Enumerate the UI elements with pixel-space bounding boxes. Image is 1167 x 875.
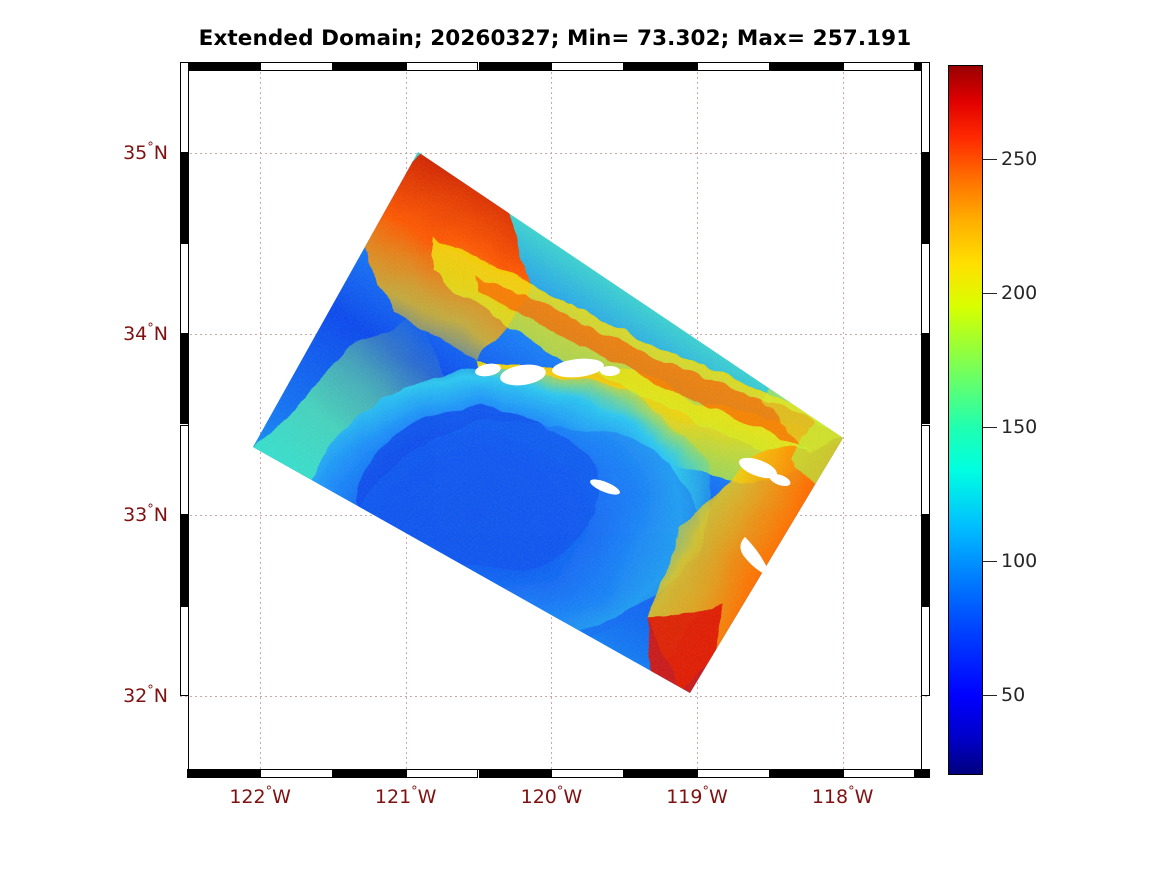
figure-canvas: Extended Domain; 20260327; Min= 73.302; … bbox=[0, 0, 1167, 875]
x-tick-label: 119°W bbox=[666, 786, 728, 808]
x-tick-hemisphere: W bbox=[563, 786, 582, 808]
y-tick-hemisphere: N bbox=[154, 685, 168, 707]
frame-segment-top bbox=[187, 62, 260, 71]
frame-segment-bottom bbox=[624, 769, 697, 778]
frame-segment-top bbox=[770, 62, 843, 71]
frame-segment-bottom bbox=[551, 769, 624, 778]
x-tick-number: 120 bbox=[521, 786, 557, 808]
x-tick-number: 121 bbox=[375, 786, 411, 808]
map-axes[interactable] bbox=[180, 62, 930, 778]
frame-segment-right bbox=[921, 62, 930, 153]
frame-segment-bottom bbox=[915, 769, 930, 778]
frame-segment-top bbox=[697, 62, 770, 71]
colorbar-tick-label: 200 bbox=[1001, 282, 1037, 304]
page-title: Extended Domain; 20260327; Min= 73.302; … bbox=[0, 26, 1110, 51]
x-tick-hemisphere: W bbox=[855, 786, 874, 808]
frame-segment-left bbox=[180, 62, 189, 153]
colorbar-tick-mark bbox=[983, 561, 997, 562]
frame-segment-bottom bbox=[333, 769, 406, 778]
y-tick-label: 34°N bbox=[60, 323, 168, 345]
frame-segment-top bbox=[624, 62, 697, 71]
colorbar-tick-mark bbox=[983, 159, 997, 160]
frame-segment-right bbox=[921, 425, 930, 516]
frame-segment-left bbox=[180, 606, 189, 697]
x-tick-number: 119 bbox=[666, 786, 702, 808]
colorbar-tick-mark bbox=[983, 427, 997, 428]
frame-segment-left bbox=[180, 515, 189, 606]
frame-segment-left bbox=[180, 334, 189, 425]
frame-segment-right bbox=[921, 243, 930, 334]
frame-segment-bottom bbox=[187, 769, 260, 778]
x-tick-hemisphere: W bbox=[418, 786, 437, 808]
y-tick-hemisphere: N bbox=[154, 504, 168, 526]
colorbar-tick-label: 150 bbox=[1001, 416, 1037, 438]
satellite-swath-image bbox=[180, 62, 930, 778]
frame-segment-right bbox=[921, 606, 930, 697]
colorbar-tick-label: 100 bbox=[1001, 550, 1037, 572]
frame-segment-bottom bbox=[260, 769, 333, 778]
frame-segment-bottom bbox=[770, 769, 843, 778]
colorbar-gradient bbox=[949, 66, 982, 774]
frame-segment-right bbox=[921, 153, 930, 244]
frame-segment-right bbox=[921, 334, 930, 425]
x-tick-label: 121°W bbox=[375, 786, 437, 808]
colorbar-tick-label: 50 bbox=[1001, 684, 1025, 706]
y-tick-label: 32°N bbox=[60, 685, 168, 707]
x-tick-label: 118°W bbox=[812, 786, 874, 808]
colorbar-tick-mark bbox=[983, 293, 997, 294]
frame-segment-left bbox=[180, 153, 189, 244]
frame-segment-left bbox=[180, 425, 189, 516]
frame-segment-top bbox=[260, 62, 333, 71]
frame-segment-bottom bbox=[479, 769, 552, 778]
y-tick-number: 32 bbox=[123, 685, 147, 707]
frame-segment-bottom bbox=[406, 769, 479, 778]
y-tick-label: 35°N bbox=[60, 142, 168, 164]
frame-segment-left bbox=[180, 243, 189, 334]
y-tick-number: 35 bbox=[123, 142, 147, 164]
x-tick-hemisphere: W bbox=[709, 786, 728, 808]
colorbar-tick-label: 250 bbox=[1001, 148, 1037, 170]
x-tick-hemisphere: W bbox=[272, 786, 291, 808]
x-tick-label: 122°W bbox=[229, 786, 291, 808]
x-tick-number: 122 bbox=[229, 786, 265, 808]
x-tick-label: 120°W bbox=[521, 786, 583, 808]
y-tick-number: 34 bbox=[123, 323, 147, 345]
colorbar[interactable] bbox=[948, 65, 983, 775]
y-tick-number: 33 bbox=[123, 504, 147, 526]
x-tick-number: 118 bbox=[812, 786, 848, 808]
frame-segment-top bbox=[406, 62, 479, 71]
frame-segment-top bbox=[479, 62, 552, 71]
colorbar-tick-mark bbox=[983, 695, 997, 696]
frame-segment-top bbox=[843, 62, 916, 71]
frame-segment-top bbox=[551, 62, 624, 71]
frame-segment-top bbox=[333, 62, 406, 71]
frame-segment-bottom bbox=[843, 769, 916, 778]
map-plot-area bbox=[180, 62, 930, 778]
frame-segment-right bbox=[921, 515, 930, 606]
y-tick-label: 33°N bbox=[60, 504, 168, 526]
y-tick-hemisphere: N bbox=[154, 323, 168, 345]
y-tick-hemisphere: N bbox=[154, 142, 168, 164]
frame-segment-bottom bbox=[697, 769, 770, 778]
